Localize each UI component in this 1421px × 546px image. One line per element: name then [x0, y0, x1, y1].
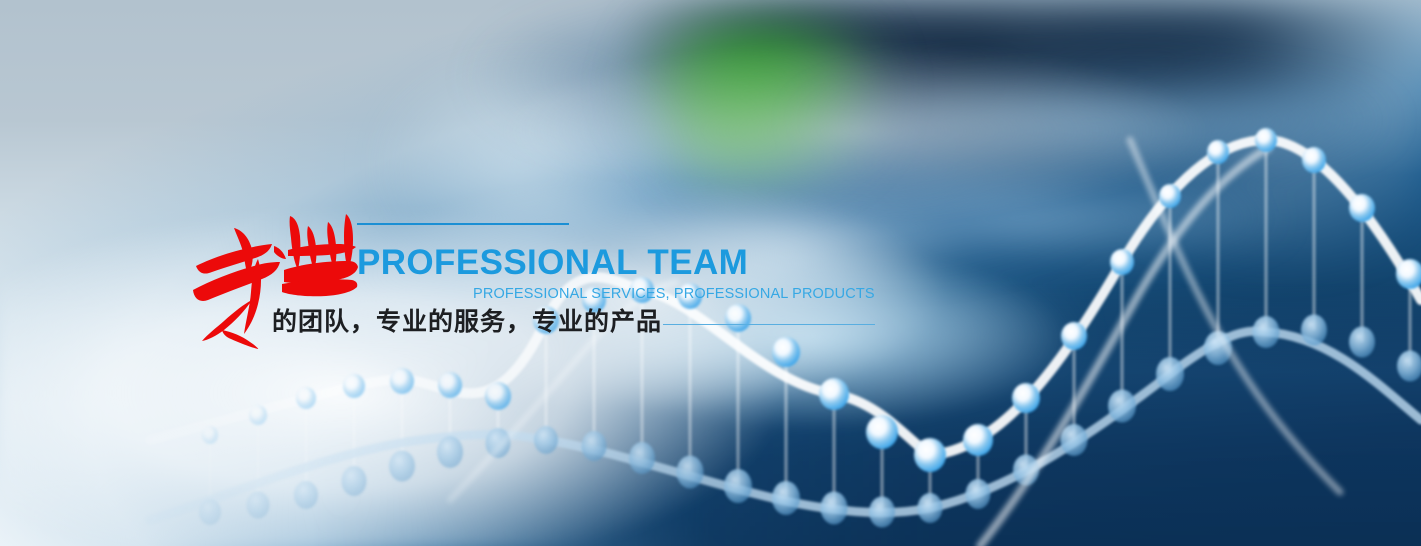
chinese-tagline: 的团队，专业的服务，专业的产品	[272, 306, 662, 338]
hero-banner: PROFESSIONAL TEAM PROFESSIONAL SERVICES,…	[0, 0, 1421, 546]
subtitle: PROFESSIONAL SERVICES, PROFESSIONAL PROD…	[473, 285, 875, 303]
page-title: PROFESSIONAL TEAM	[357, 243, 748, 283]
decorative-rule-bottom	[663, 324, 875, 325]
banner-copy: PROFESSIONAL TEAM PROFESSIONAL SERVICES,…	[0, 0, 1421, 546]
decorative-rule-top	[357, 223, 569, 225]
